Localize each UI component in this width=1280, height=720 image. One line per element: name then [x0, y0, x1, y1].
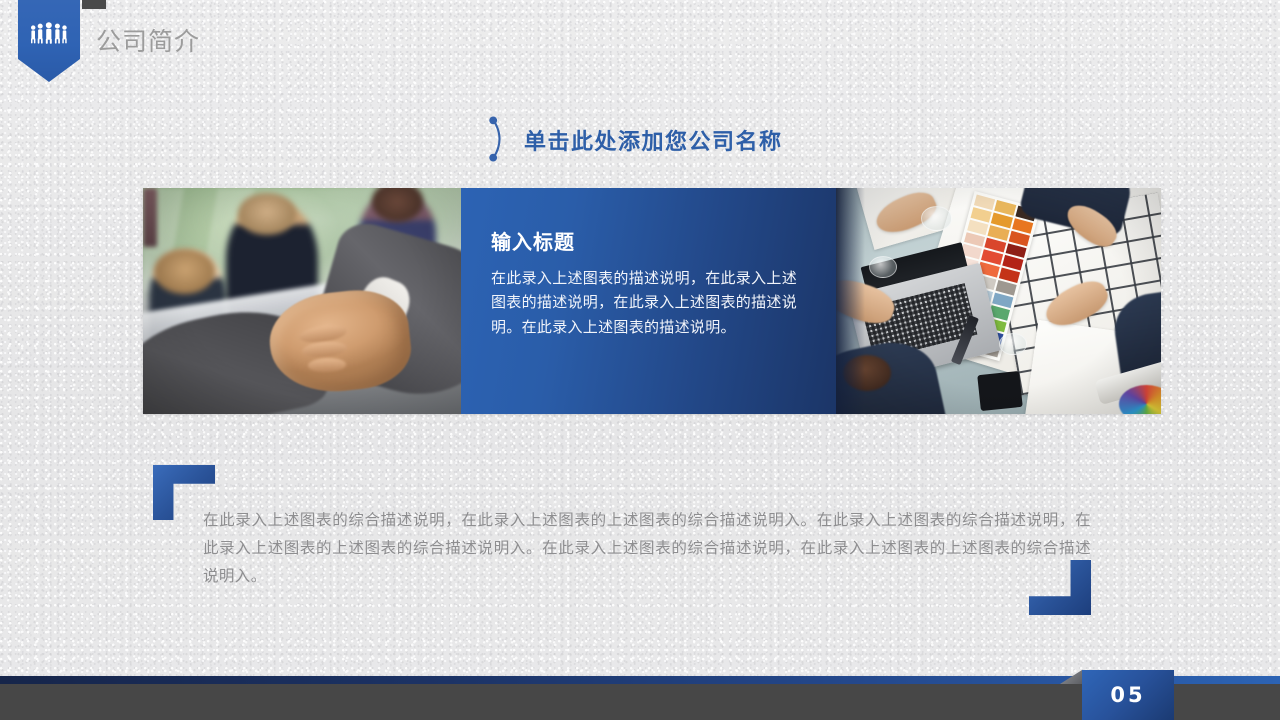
copy-body: 在此录入上述图表的描述说明，在此录入上述图表的描述说明，在此录入上述图表的描述说…: [491, 266, 802, 339]
page-title: 单击此处添加您公司名称: [524, 124, 783, 156]
design-team-desk-overhead-photo: [836, 188, 1161, 414]
top-accent-bar: [82, 0, 106, 9]
copy-heading: 输入标题: [491, 226, 802, 255]
curly-bracket-dots-icon: [484, 114, 514, 164]
header-badge: [18, 0, 80, 82]
business-handshake-photo: [143, 188, 461, 414]
header-title: 公司简介: [96, 22, 200, 58]
page-number-badge: 05: [1082, 670, 1174, 720]
media-band: 输入标题 在此录入上述图表的描述说明，在此录入上述图表的描述说明，在此录入上述图…: [143, 188, 1161, 414]
copy-panel: 输入标题 在此录入上述图表的描述说明，在此录入上述图表的描述说明，在此录入上述图…: [461, 188, 836, 414]
slide-canvas: 公司简介 单击此处添加您公司名称: [0, 0, 1280, 720]
team-people-icon: [29, 0, 69, 49]
summary-paragraph: 在此录入上述图表的综合描述说明，在此录入上述图表的上述图表的综合描述说明入。在此…: [203, 506, 1091, 591]
